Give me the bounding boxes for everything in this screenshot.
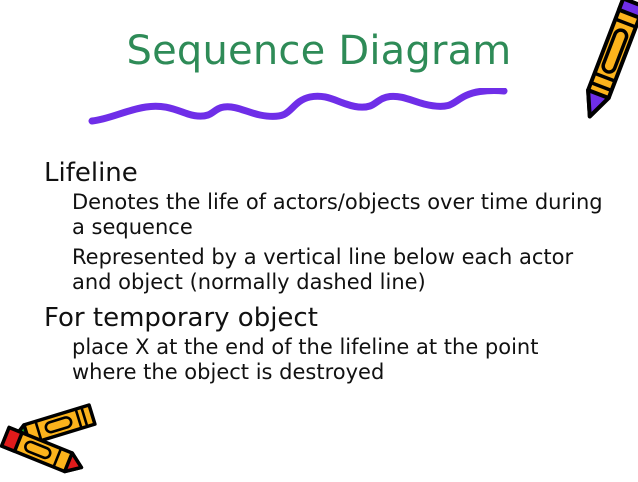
bullet-represented-by-line: Represented by a vertical line below eac…	[44, 245, 604, 295]
body-content: Lifeline Denotes the life of actors/obje…	[44, 158, 604, 389]
page-title: Sequence Diagram	[127, 30, 512, 72]
bullet-denotes-life: Denotes the life of actors/objects over …	[44, 190, 604, 240]
bullet-for-temporary-object: For temporary object	[44, 303, 604, 333]
crossed-crayons-icon	[0, 398, 100, 482]
bullet-place-x: place X at the end of the lifeline at th…	[44, 335, 604, 385]
bullet-lifeline: Lifeline	[44, 158, 604, 188]
slide-canvas: Sequence Diagram Lifeline Denotes the li…	[0, 0, 638, 478]
title-block: Sequence Diagram	[0, 30, 638, 72]
purple-squiggle-underline-icon	[88, 88, 508, 128]
